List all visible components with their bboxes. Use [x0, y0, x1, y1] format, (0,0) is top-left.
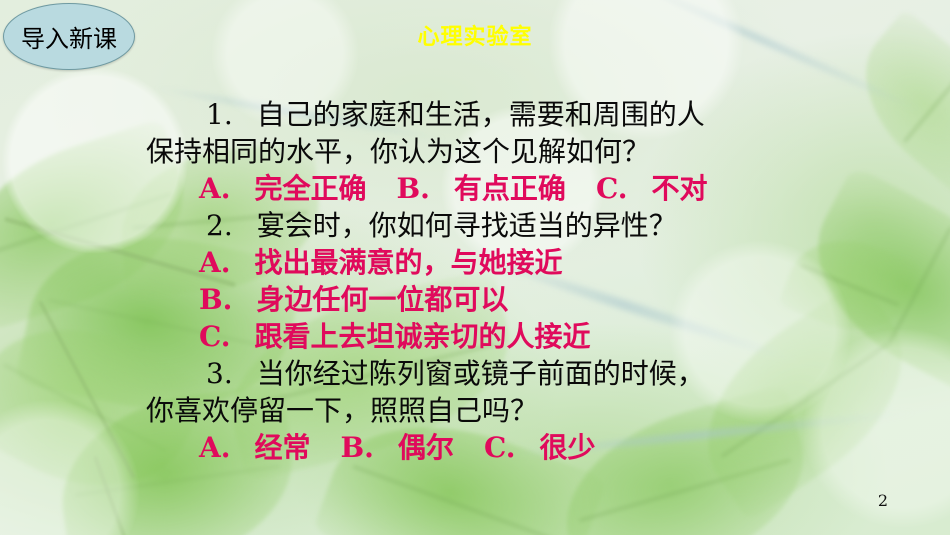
option-label[interactable]: 很少 — [539, 431, 595, 464]
option-key[interactable]: A. — [199, 172, 230, 205]
option-key[interactable]: B. — [397, 172, 430, 205]
option-label: 身边任何一位都可以 — [256, 283, 508, 316]
question-list: 1.自己的家庭和生活，需要和周围的人 保持相同的水平，你认为这个见解如何？ A.… — [146, 96, 846, 466]
option-label: 找出最满意的，与她接近 — [254, 246, 562, 279]
leaf-stem — [39, 301, 136, 479]
option-key[interactable]: B. — [341, 431, 374, 464]
option-label[interactable]: 经常 — [254, 431, 310, 464]
question-1-text-line-1: 自己的家庭和生活，需要和周围的人 — [257, 98, 705, 131]
option-key[interactable]: C. — [484, 431, 516, 464]
question-3-options-row: A.经常B.偶尔C.很少 — [146, 429, 846, 466]
question-3-prompt-line-2: 你喜欢停留一下，照照自己吗？ — [146, 392, 846, 429]
option-label: 跟看上去坦诚亲切的人接近 — [255, 320, 591, 353]
question-1-prompt-line-1: 1.自己的家庭和生活，需要和周围的人 — [146, 96, 846, 133]
question-1-options-row: A.完全正确B.有点正确C.不对 — [146, 170, 846, 207]
page-title: 心理实验室 — [0, 19, 950, 51]
question-2-option-a[interactable]: A.找出最满意的，与她接近 — [146, 244, 846, 281]
option-label[interactable]: 完全正确 — [254, 172, 366, 205]
option-label[interactable]: 偶尔 — [398, 431, 454, 464]
option-label[interactable]: 不对 — [651, 172, 707, 205]
question-3-text-line-2: 你喜欢停留一下，照照自己吗？ — [146, 394, 538, 427]
question-3-text-line-1: 当你经过陈列窗或镜子前面的时候， — [257, 357, 705, 390]
page-number: 2 — [878, 491, 888, 510]
leaf-stem — [94, 456, 152, 535]
slide-canvas: 导入新课 心理实验室 1.自己的家庭和生活，需要和周围的人 保持相同的水平，你认… — [0, 0, 950, 535]
option-key: B. — [199, 283, 232, 316]
question-2-text-line-1: 宴会时，你如何寻找适当的异性？ — [257, 209, 677, 242]
question-2-prompt-line-1: 2.宴会时，你如何寻找适当的异性？ — [146, 207, 846, 244]
question-2-option-b[interactable]: B.身边任何一位都可以 — [146, 281, 846, 318]
question-3-prompt-line-1: 3.当你经过陈列窗或镜子前面的时候， — [146, 355, 846, 392]
question-2-number: 2. — [206, 209, 233, 242]
option-label[interactable]: 有点正确 — [454, 172, 566, 205]
question-2-option-c[interactable]: C.跟看上去坦诚亲切的人接近 — [146, 318, 846, 355]
option-key: C. — [199, 320, 231, 353]
option-key[interactable]: C. — [596, 172, 628, 205]
question-1-text-line-2: 保持相同的水平，你认为这个见解如何？ — [146, 135, 650, 168]
question-3-number: 3. — [206, 357, 233, 390]
question-1-number: 1. — [206, 98, 233, 131]
option-key[interactable]: A. — [199, 431, 230, 464]
question-1-prompt-line-2: 保持相同的水平，你认为这个见解如何？ — [146, 133, 846, 170]
option-key: A. — [199, 246, 230, 279]
